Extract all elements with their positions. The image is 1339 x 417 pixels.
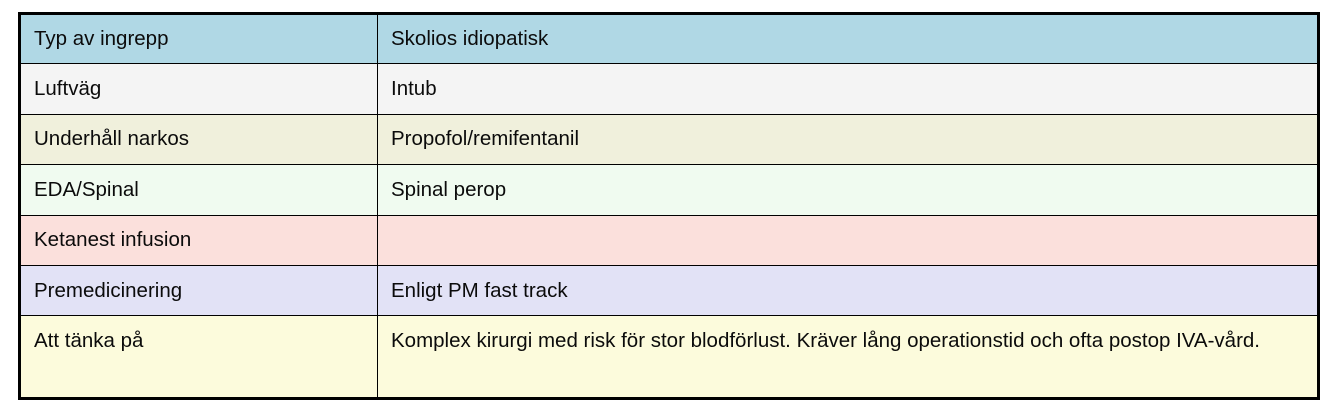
table-row: EDA/Spinal Spinal perop	[20, 165, 1319, 215]
row-label-eda-spinal: EDA/Spinal	[20, 165, 378, 215]
row-label-premedication: Premedicinering	[20, 265, 378, 315]
table-row: Luftväg Intub	[20, 64, 1319, 114]
header-cell-procedure: Skolios idiopatisk	[378, 14, 1319, 64]
row-value-airway: Intub	[378, 64, 1319, 114]
row-label-maintenance: Underhåll narkos	[20, 114, 378, 164]
table-header-row: Typ av ingrepp Skolios idiopatisk	[20, 14, 1319, 64]
table-row: Ketanest infusion	[20, 215, 1319, 265]
table-row: Att tänka på Komplex kirurgi med risk fö…	[20, 316, 1319, 399]
table-row: Premedicinering Enligt PM fast track	[20, 265, 1319, 315]
row-value-maintenance: Propofol/remifentanil	[378, 114, 1319, 164]
anesthesia-protocol-table: Typ av ingrepp Skolios idiopatisk Luftvä…	[18, 12, 1320, 400]
header-cell-category: Typ av ingrepp	[20, 14, 378, 64]
row-label-airway: Luftväg	[20, 64, 378, 114]
row-label-considerations: Att tänka på	[20, 316, 378, 399]
row-value-ketanest-infusion	[378, 215, 1319, 265]
table-row: Underhåll narkos Propofol/remifentanil	[20, 114, 1319, 164]
anesthesia-table-container: Typ av ingrepp Skolios idiopatisk Luftvä…	[18, 12, 1320, 400]
row-value-premedication: Enligt PM fast track	[378, 265, 1319, 315]
row-value-eda-spinal: Spinal perop	[378, 165, 1319, 215]
row-value-considerations: Komplex kirurgi med risk för stor blodfö…	[378, 316, 1319, 399]
row-label-ketanest-infusion: Ketanest infusion	[20, 215, 378, 265]
